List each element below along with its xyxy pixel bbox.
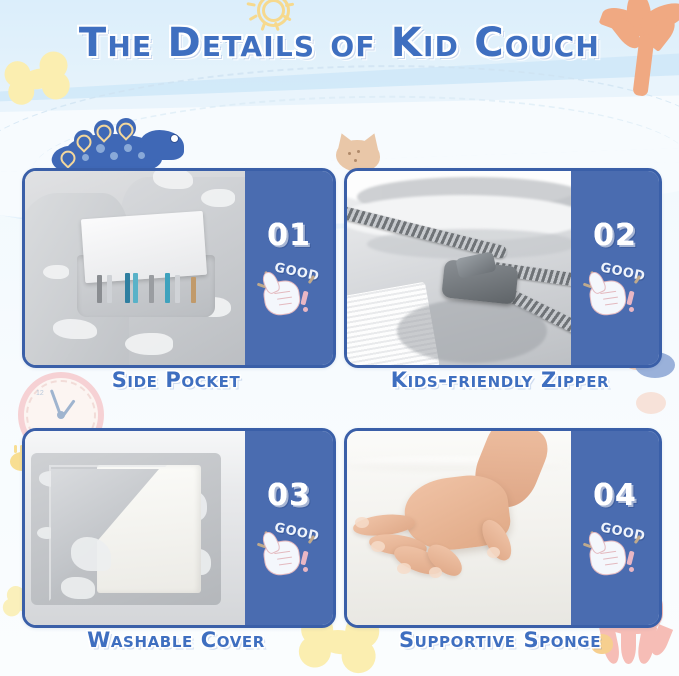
good-thumbs-up-sticker-1: GOOD bbox=[258, 267, 320, 319]
detail-card-3[interactable]: 03 GOOD bbox=[22, 428, 336, 628]
card-3-caption: Washable Cover bbox=[22, 628, 330, 652]
page-title: The Details of Kid Couch bbox=[0, 20, 679, 66]
card-3-photo bbox=[25, 431, 245, 625]
detail-card-1[interactable]: 01 GOOD bbox=[22, 168, 336, 368]
card-4-number-panel: 04 GOOD bbox=[571, 431, 659, 625]
card-4-photo bbox=[347, 431, 571, 625]
good-thumbs-up-sticker-4: GOOD bbox=[584, 527, 646, 579]
card-2-caption: Kids-friendly Zipper bbox=[344, 368, 656, 392]
card-2-number-panel: 02 GOOD bbox=[571, 171, 659, 365]
card-4-number: 04 bbox=[593, 478, 637, 513]
card-3-number: 03 bbox=[267, 478, 311, 513]
card-3-number-panel: 03 GOOD bbox=[245, 431, 333, 625]
detail-card-4[interactable]: 04 GOOD bbox=[344, 428, 662, 628]
peach-blob-decoration-small bbox=[636, 392, 666, 414]
infographic-page: The Details of Kid Couch 12 6 bbox=[0, 0, 679, 676]
card-2-photo bbox=[347, 171, 571, 365]
card-1-number: 01 bbox=[267, 218, 311, 253]
card-2-number: 02 bbox=[593, 218, 637, 253]
card-1-photo bbox=[25, 171, 245, 365]
card-4-caption: Supportive Sponge bbox=[344, 628, 656, 652]
good-thumbs-up-sticker-2: GOOD bbox=[584, 267, 646, 319]
detail-card-2[interactable]: 02 GOOD bbox=[344, 168, 662, 368]
good-thumbs-up-sticker-3: GOOD bbox=[258, 527, 320, 579]
card-1-caption: Side Pocket bbox=[22, 368, 330, 392]
card-1-number-panel: 01 GOOD bbox=[245, 171, 333, 365]
